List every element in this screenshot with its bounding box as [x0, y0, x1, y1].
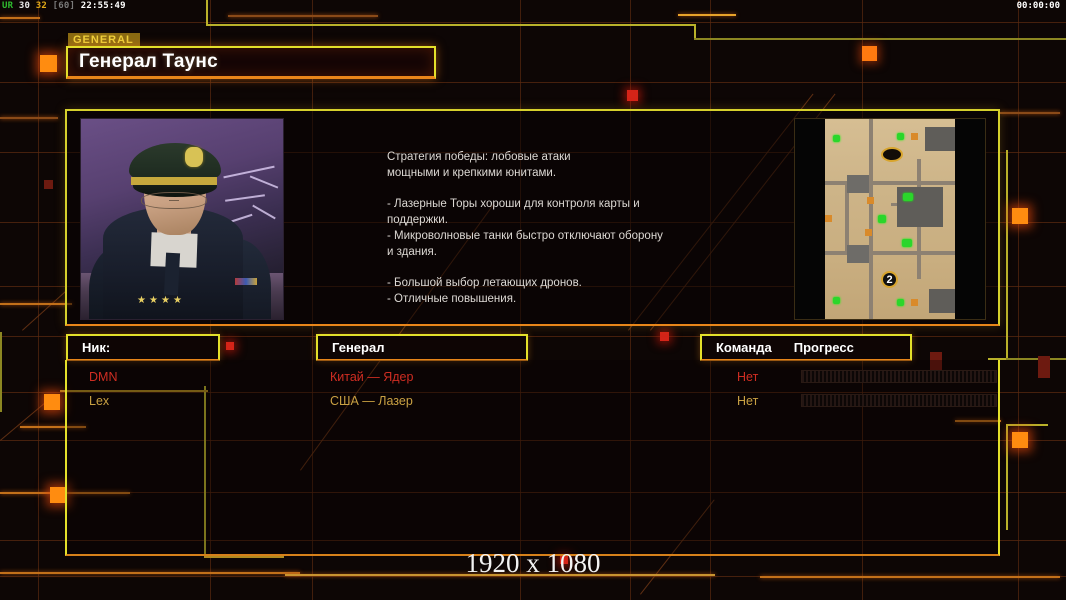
player-list-panel: DMN Китай — Ядер Нет Lex США — Лазер Нет — [65, 360, 1000, 556]
decor-dot — [862, 46, 877, 61]
decor-dot — [44, 180, 53, 189]
row-progress-bar — [801, 394, 997, 407]
header-team-label: Команда — [702, 340, 772, 355]
header-nick-label: Ник: — [68, 340, 110, 355]
header-general-label: Генерал — [318, 340, 384, 355]
map-preview[interactable]: 2 — [794, 118, 986, 320]
map-start-position: 2 — [881, 271, 898, 288]
hud-value-1: 30 — [19, 1, 30, 11]
hud-status-bar: UR 30 32 [60] 22:55:49 — [2, 1, 126, 11]
row-general: Китай — Ядер — [330, 370, 413, 384]
page-title: Генерал Таунс — [68, 51, 218, 73]
hud-timer: 00:00:00 — [1017, 1, 1060, 11]
decor-dot — [44, 394, 60, 410]
hud-value-3: [60] — [53, 1, 75, 11]
map-unit-marker — [903, 193, 913, 201]
hud-value-2: 32 — [36, 1, 47, 11]
decor-dot — [1012, 432, 1028, 448]
strategy-description: Стратегия победы: лобовые атаки мощными … — [387, 149, 717, 307]
map-image: 2 — [825, 119, 955, 319]
hud-clock: 22:55:49 — [81, 1, 126, 11]
row-nick: DMN — [89, 370, 117, 384]
decor-dot — [660, 332, 669, 341]
glasses-icon — [141, 192, 207, 209]
header-nick: Ник: — [66, 334, 220, 361]
row-team: Нет — [737, 394, 758, 408]
map-unit-marker — [878, 215, 886, 223]
hud-label: UR — [2, 1, 13, 11]
header-progress-label: Прогресс — [772, 340, 854, 355]
general-info-panel: ★ ★ ★ ★ Стратегия победы: лобовые атаки … — [65, 109, 1000, 326]
map-unit-marker — [833, 135, 840, 142]
screen-root: UR 30 32 [60] 22:55:49 00:00:00 GENERAL … — [0, 0, 1066, 600]
desc-perks: - Большой выбор летающих дронов. - Отлич… — [387, 275, 717, 307]
map-unit-marker — [897, 299, 904, 306]
header-general: Генерал — [316, 334, 528, 361]
row-general: США — Лазер — [330, 394, 413, 408]
table-row[interactable]: DMN Китай — Ядер Нет — [67, 365, 998, 389]
decor-dot — [1012, 208, 1028, 224]
general-portrait: ★ ★ ★ ★ — [81, 119, 283, 319]
desc-intro: Стратегия победы: лобовые атаки мощными … — [387, 149, 717, 181]
decor-dot — [40, 55, 57, 72]
cap-emblem-icon — [185, 147, 203, 167]
row-nick: Lex — [89, 394, 109, 408]
general-title-box[interactable]: Генерал Таунс — [66, 46, 436, 79]
row-progress-bar — [801, 370, 997, 383]
table-row[interactable]: Lex США — Лазер Нет — [67, 389, 998, 413]
decor-dot — [226, 342, 234, 350]
decor-dot — [627, 90, 638, 101]
map-unit-marker — [833, 297, 840, 304]
decor-dot — [1038, 356, 1050, 378]
header-team-progress: Команда Прогресс — [700, 334, 912, 361]
map-unit-marker — [902, 239, 912, 247]
map-unit-marker — [897, 133, 904, 140]
general-tab-label: GENERAL — [68, 33, 140, 47]
decor-dot — [50, 487, 66, 503]
resolution-label: 1920 x 1080 — [0, 548, 1066, 579]
row-team: Нет — [737, 370, 758, 384]
desc-bullets: - Лазерные Торы хороши для контроля карт… — [387, 196, 717, 260]
